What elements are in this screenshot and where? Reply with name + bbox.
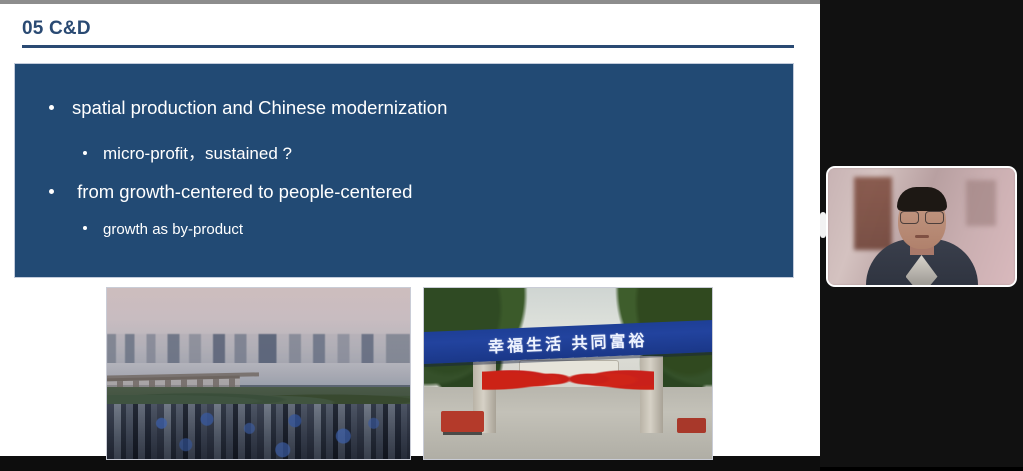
bullet-item-4: growth as by-product: [83, 221, 243, 238]
avatar-hair: [897, 187, 947, 211]
page-title: 05 C&D: [22, 18, 91, 40]
photo-red-bench-right: [677, 418, 706, 433]
bullet-item-4-label: growth as by-product: [103, 221, 243, 238]
avatar: [863, 193, 981, 285]
screen-share-window: 05 C&D spatial production and Chinese mo…: [0, 0, 1023, 467]
glasses-icon: [900, 211, 944, 223]
bullet-item-2: micro-profit，sustained ?: [83, 139, 292, 164]
video-tile-drag-handle[interactable]: [820, 212, 826, 238]
avatar-mouth: [915, 235, 929, 238]
photo-skyline-region: [107, 334, 410, 366]
photo-red-flags: [482, 370, 655, 408]
city-skyline-photo: [107, 288, 410, 459]
participant-video-tile[interactable]: [828, 168, 1015, 285]
photo-red-bench-left: [441, 411, 484, 432]
title-underline-rule: [22, 45, 794, 48]
village-gate-photo: 幸福生活 共同富裕: [424, 288, 712, 459]
bullet-dot-icon: [49, 105, 54, 110]
slide-content-panel: spatial production and Chinese moderniza…: [15, 64, 793, 277]
bottom-edge-strip: [0, 460, 820, 471]
bullet-item-1: spatial production and Chinese moderniza…: [49, 97, 447, 119]
photo-blue-roofs: [107, 408, 410, 459]
bullet-item-3-label: from growth-centered to people-centered: [72, 181, 412, 203]
bullet-dot-icon: [83, 226, 87, 230]
bullet-dot-icon: [49, 189, 54, 194]
bullet-item-1-label: spatial production and Chinese moderniza…: [72, 97, 447, 119]
bullet-item-2-label: micro-profit，sustained ?: [103, 139, 292, 164]
bullet-item-3: from growth-centered to people-centered: [49, 181, 412, 203]
bullet-dot-icon: [83, 151, 87, 155]
presentation-slide: 05 C&D spatial production and Chinese mo…: [0, 4, 820, 456]
